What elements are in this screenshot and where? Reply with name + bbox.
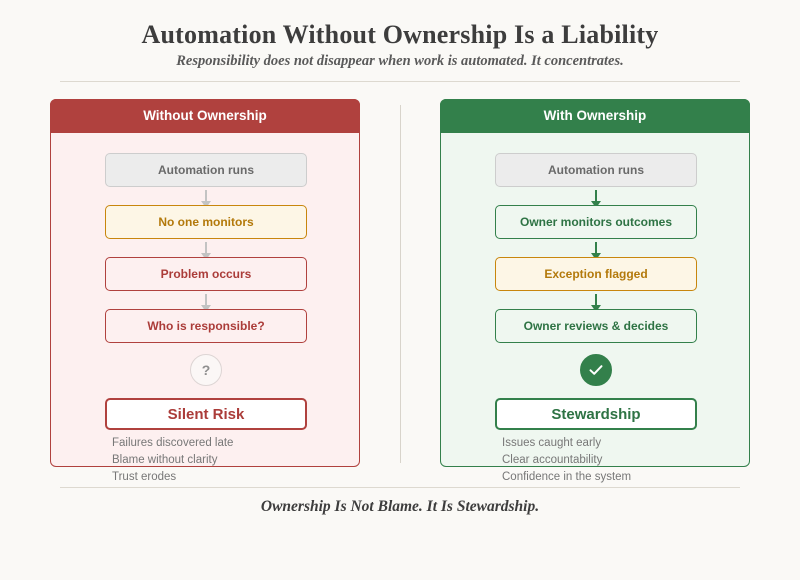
- node-who-is-responsible: Who is responsible?: [105, 309, 307, 343]
- panel-with-ownership: With Ownership Automation runs Owner mon…: [440, 99, 750, 467]
- question-badge: ?: [190, 354, 222, 386]
- panel-divider: [400, 105, 401, 463]
- node-label: Automation runs: [548, 163, 644, 177]
- page-title: Automation Without Ownership Is a Liabil…: [0, 20, 800, 50]
- footnotes-with-ownership: Issues caught early Clear accountability…: [502, 435, 631, 486]
- divider-top: [60, 81, 740, 82]
- check-icon: [586, 360, 606, 380]
- node-stewardship: Stewardship: [495, 398, 697, 430]
- panel-header-with-ownership: With Ownership: [440, 99, 750, 133]
- footnotes-without-ownership: Failures discovered late Blame without c…: [112, 435, 233, 486]
- footer-tagline: Ownership Is Not Blame. It Is Stewardshi…: [0, 498, 800, 516]
- node-label: Exception flagged: [544, 267, 647, 281]
- node-automation-runs-right: Automation runs: [495, 153, 697, 187]
- panel-header-without-ownership: Without Ownership: [50, 99, 360, 133]
- panel-without-ownership: Without Ownership Automation runs No one…: [50, 99, 360, 467]
- divider-bottom: [60, 487, 740, 488]
- node-label: Automation runs: [158, 163, 254, 177]
- infographic-canvas: Automation Without Ownership Is a Liabil…: [0, 0, 800, 580]
- node-owner-reviews-decides: Owner reviews & decides: [495, 309, 697, 343]
- footnote-item: Clear accountability: [502, 452, 631, 469]
- node-label: Problem occurs: [161, 267, 252, 281]
- node-label: No one monitors: [158, 215, 253, 229]
- page-subtitle: Responsibility does not disappear when w…: [0, 53, 800, 70]
- check-badge: [580, 354, 612, 386]
- footnote-item: Issues caught early: [502, 435, 631, 452]
- node-exception-flagged: Exception flagged: [495, 257, 697, 291]
- node-problem-occurs: Problem occurs: [105, 257, 307, 291]
- footnote-item: Failures discovered late: [112, 435, 233, 452]
- node-automation-runs-left: Automation runs: [105, 153, 307, 187]
- node-label: Owner reviews & decides: [524, 319, 669, 333]
- node-owner-monitors-outcomes: Owner monitors outcomes: [495, 205, 697, 239]
- node-label: Stewardship: [551, 406, 640, 423]
- node-label: Silent Risk: [168, 406, 245, 423]
- footnote-item: Confidence in the system: [502, 469, 631, 486]
- node-label: Owner monitors outcomes: [520, 215, 672, 229]
- node-silent-risk: Silent Risk: [105, 398, 307, 430]
- node-no-one-monitors: No one monitors: [105, 205, 307, 239]
- footnote-item: Blame without clarity: [112, 452, 233, 469]
- node-label: Who is responsible?: [147, 319, 264, 333]
- footnote-item: Trust erodes: [112, 469, 233, 486]
- question-mark-icon: ?: [202, 362, 211, 378]
